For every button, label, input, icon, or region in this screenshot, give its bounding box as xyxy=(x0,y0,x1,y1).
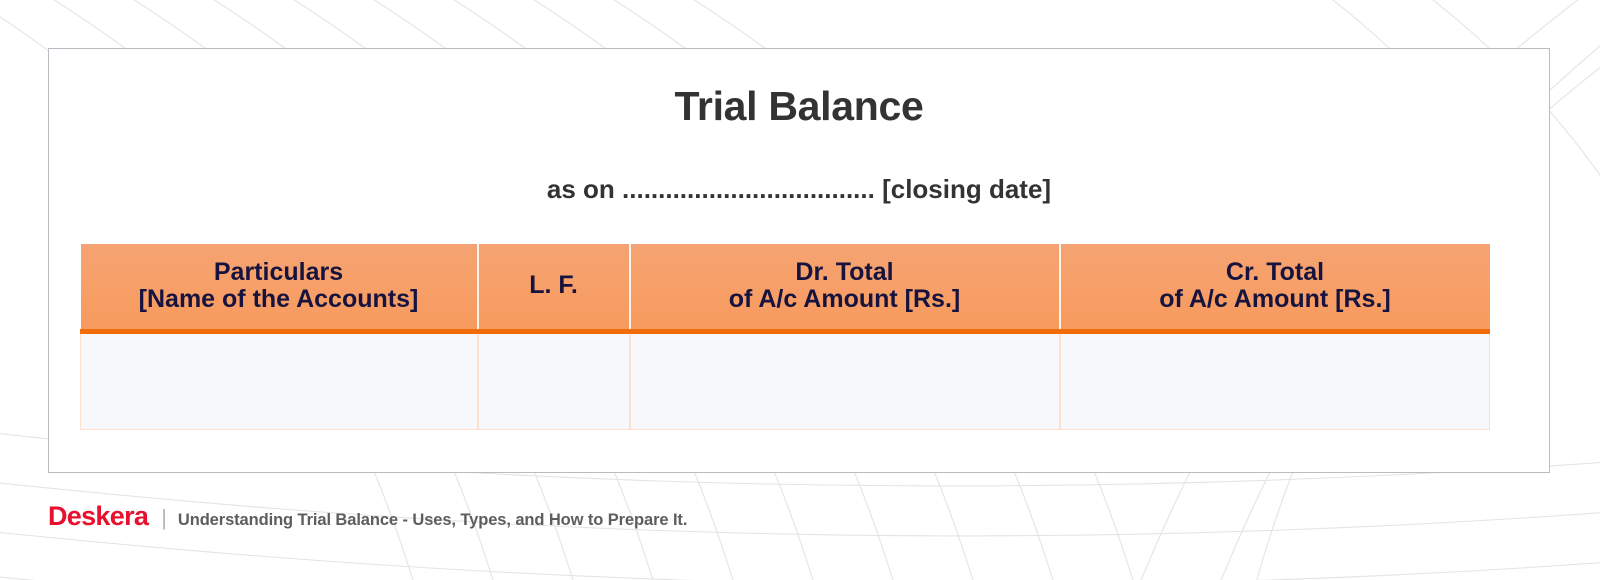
column-header-lf-line1: L. F. xyxy=(485,272,623,299)
column-header-cr-total-line1: Cr. Total xyxy=(1067,259,1484,286)
deskera-logo: Deskera xyxy=(48,503,148,530)
column-header-dr-total: Dr. Total of A/c Amount [Rs.] xyxy=(630,244,1060,331)
column-header-particulars-line1: Particulars xyxy=(87,259,471,286)
column-header-particulars: Particulars [Name of the Accounts] xyxy=(81,244,478,331)
column-header-dr-total-line1: Dr. Total xyxy=(637,259,1053,286)
table-row xyxy=(81,331,1490,429)
column-header-cr-total-line2: of A/c Amount [Rs.] xyxy=(1067,286,1484,313)
cell-dr-total[interactable] xyxy=(630,331,1060,429)
column-header-cr-total: Cr. Total of A/c Amount [Rs.] xyxy=(1060,244,1490,331)
column-header-particulars-line2: [Name of the Accounts] xyxy=(87,286,471,313)
table-header-row: Particulars [Name of the Accounts] L. F.… xyxy=(81,244,1490,331)
footer-divider: | xyxy=(161,507,167,529)
cell-cr-total[interactable] xyxy=(1060,331,1490,429)
cell-lf[interactable] xyxy=(478,331,630,429)
page-title: Trial Balance xyxy=(49,86,1549,127)
column-header-lf: L. F. xyxy=(478,244,630,331)
closing-date-line: as on ..................................… xyxy=(49,176,1549,202)
footer-caption: Understanding Trial Balance - Uses, Type… xyxy=(178,512,687,529)
cell-particulars[interactable] xyxy=(81,331,478,429)
footer: Deskera | Understanding Trial Balance - … xyxy=(48,503,687,530)
trial-balance-card: Trial Balance as on ....................… xyxy=(48,48,1550,473)
column-header-dr-total-line2: of A/c Amount [Rs.] xyxy=(637,286,1053,313)
trial-balance-table: Particulars [Name of the Accounts] L. F.… xyxy=(80,244,1490,430)
